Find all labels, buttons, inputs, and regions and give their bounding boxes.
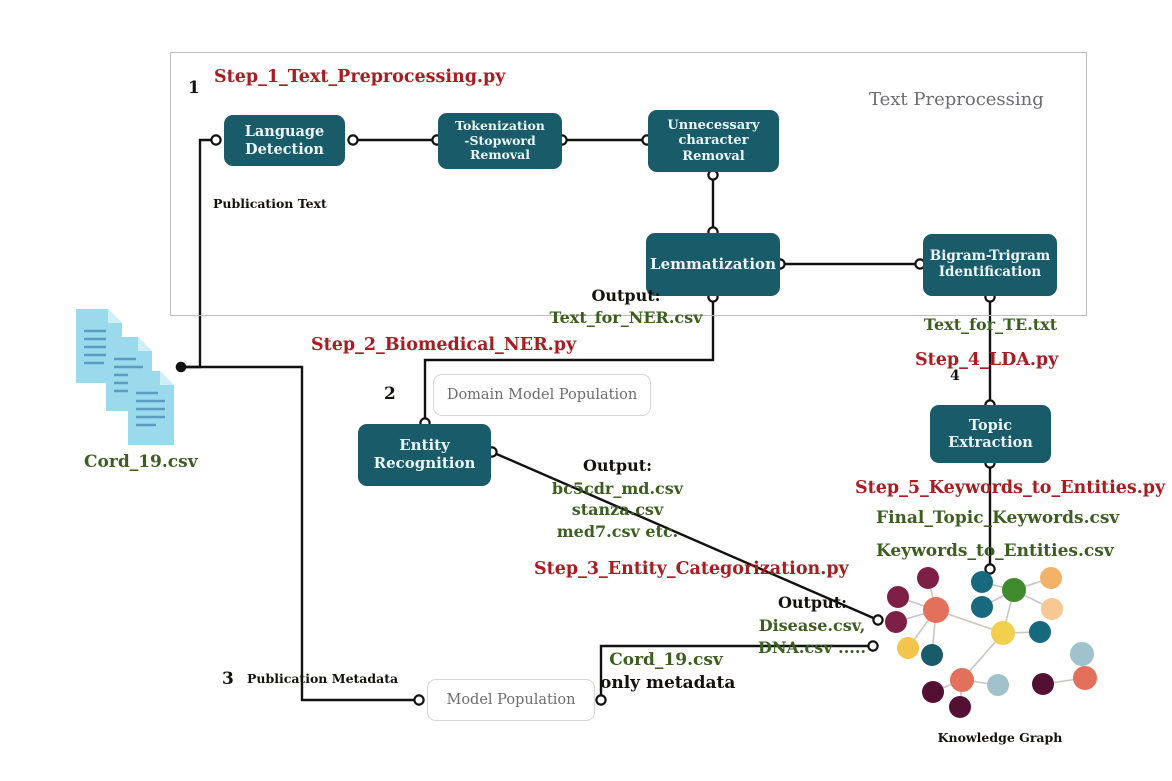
diagram-canvas: Text Preprocessing 1 Step_1_Text_Preproc… (0, 0, 1172, 781)
label-knowledge-graph: Knowledge Graph (910, 730, 1090, 745)
output-label-2: Output: (545, 456, 690, 475)
kg-node (917, 567, 939, 589)
step-3-script-label: Step_3_Entity_Categorization.py (534, 559, 849, 579)
node-topic-extraction-label: Topic Extraction (948, 417, 1033, 451)
label-publication-text: Publication Text (213, 196, 327, 211)
box-domain-model-population[interactable]: Domain Model Population (433, 374, 651, 416)
step-number-2: 2 (384, 384, 396, 404)
kg-node (1073, 666, 1097, 690)
kg-node (987, 674, 1009, 696)
step-number-4: 4 (950, 368, 960, 384)
box-model-population[interactable]: Model Population (427, 679, 595, 721)
node-unnecessary-char-label: Unnecessary character Removal (667, 118, 759, 164)
output-label-1: Output: (551, 286, 701, 305)
output-ner-file-3: med7.csv etc. (540, 522, 695, 541)
document-icon-front (128, 371, 174, 445)
step-2-script-label: Step_2_Biomedical_NER.py (311, 335, 576, 355)
node-topic-extraction[interactable]: Topic Extraction (930, 405, 1051, 463)
step-number-1: 1 (188, 78, 200, 98)
kg-node (1029, 621, 1051, 643)
kg-node (949, 696, 971, 718)
kg-node (1040, 567, 1062, 589)
node-bigram-trigram-identification[interactable]: Bigram-Trigram Identification (923, 234, 1057, 296)
output-text-for-te: Text_for_TE.txt (908, 315, 1073, 334)
output-ner-file-1: bc5cdr_md.csv (540, 479, 695, 498)
output-final-topic-keywords: Final_Topic_Keywords.csv (876, 508, 1104, 528)
kg-node (887, 586, 909, 608)
kg-node (923, 597, 949, 623)
kg-node (922, 681, 944, 703)
node-language-detection-label: Language Detection (245, 123, 325, 157)
node-lemmatization-label: Lemmatization (650, 256, 776, 274)
node-entity-recognition[interactable]: Entity Recognition (358, 424, 491, 486)
kg-node (971, 596, 993, 618)
step-number-3: 3 (222, 669, 234, 689)
kg-node (885, 611, 907, 633)
node-unnecessary-character-removal[interactable]: Unnecessary character Removal (648, 110, 779, 172)
step-4-script-label: Step_4_LDA.py (915, 350, 1058, 370)
kg-node (921, 644, 943, 666)
kg-node (991, 621, 1015, 645)
node-entity-recognition-label: Entity Recognition (374, 437, 476, 472)
output-cord19-metadata-1: Cord_19.csv (600, 650, 732, 670)
domain-model-population-label: Domain Model Population (447, 387, 637, 403)
kg-node (1070, 642, 1094, 666)
node-bigram-trigram-label: Bigram-Trigram Identification (930, 249, 1050, 281)
step-5-script-label: Step_5_Keywords_to_Entities.py (855, 478, 1165, 498)
node-language-detection[interactable]: Language Detection (224, 115, 345, 166)
kg-node (1041, 598, 1063, 620)
model-population-label: Model Population (446, 692, 575, 708)
node-tokenization-label: Tokenization -Stopword Removal (455, 119, 545, 163)
section-title-text-preprocessing: Text Preprocessing (869, 89, 1044, 110)
kg-node (950, 668, 974, 692)
kg-node (1032, 673, 1054, 695)
node-tokenization-stopword-removal[interactable]: Tokenization -Stopword Removal (438, 113, 562, 169)
knowledge-graph-visual (860, 555, 1120, 735)
output-ner-file-2: stanza.csv (540, 500, 695, 519)
label-cord19-source: Cord_19.csv (84, 452, 198, 472)
output-text-for-ner: Text_for_NER.csv (546, 308, 706, 327)
label-publication-metadata: Publication Metadata (247, 671, 398, 686)
documents-icon-group (60, 295, 260, 475)
kg-node (1002, 578, 1026, 602)
output-cord19-metadata-2: only metadata (600, 673, 732, 693)
kg-node (971, 571, 993, 593)
kg-node (897, 637, 919, 659)
step-1-script-label: Step_1_Text_Preprocessing.py (214, 67, 505, 87)
